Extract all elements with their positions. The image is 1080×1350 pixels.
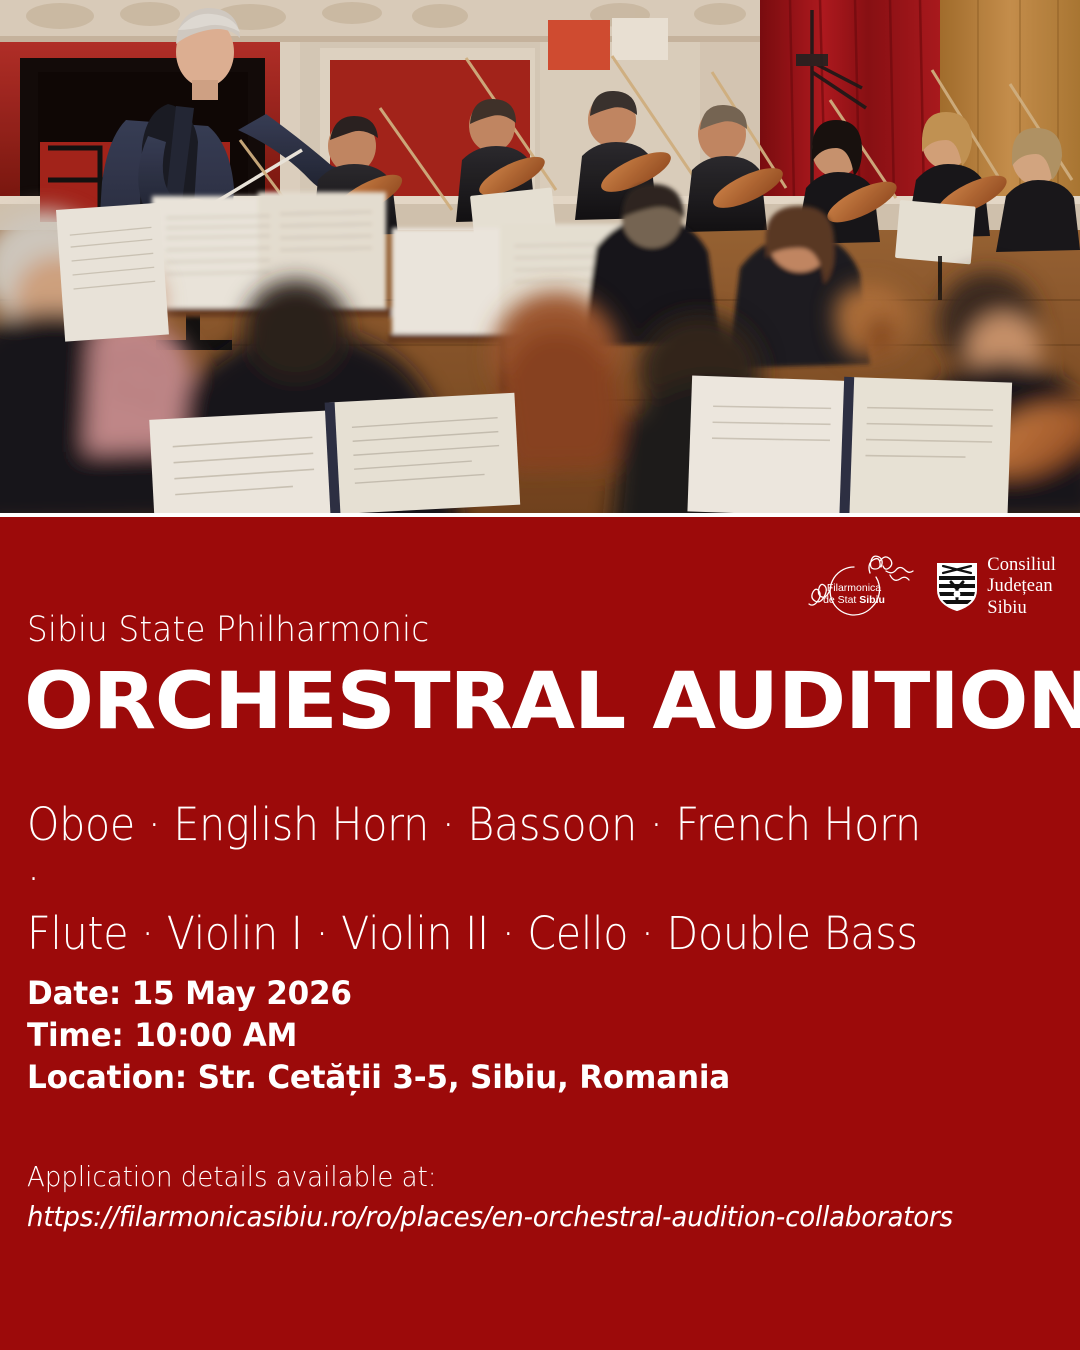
red-content-panel: Filarmonica de Stat Sibiu xyxy=(0,517,1080,1350)
consiliul-judetean-sibiu-logo: Consiliul Județean Sibiu xyxy=(936,555,1056,620)
orchestra-photo xyxy=(0,0,1080,513)
event-location: Location: Str. Cetății 3-5, Sibiu, Roman… xyxy=(27,1056,730,1098)
event-details: Date: 15 May 2026 Time: 10:00 AM Locatio… xyxy=(27,972,730,1099)
filarmonica-line1: Filarmonica xyxy=(827,582,881,594)
event-date: Date: 15 May 2026 xyxy=(27,972,730,1014)
filarmonica-line2: de Stat Sibiu xyxy=(823,594,885,606)
filarmonica-de-stat-sibiu-logo: Filarmonica de Stat Sibiu xyxy=(792,551,918,623)
sibiu-county-shield-icon xyxy=(936,562,978,612)
instrument-list: Oboe · English Horn · Bassoon · French H… xyxy=(27,798,933,961)
event-time: Time: 10:00 AM xyxy=(27,1014,730,1056)
instrument-list-line-2: Flute · Violin I · Violin II · Cello · D… xyxy=(27,907,933,961)
logo-row: Filarmonica de Stat Sibiu xyxy=(792,551,1056,623)
application-info: Application details available at: https:… xyxy=(27,1157,953,1237)
organization-name: Sibiu State Philharmonic xyxy=(27,610,429,650)
consiliul-judetean-label: Consiliul Județean Sibiu xyxy=(987,555,1056,620)
instrument-list-line-1: Oboe · English Horn · Bassoon · French H… xyxy=(27,798,933,907)
application-intro: Application details available at: xyxy=(27,1160,437,1193)
application-url[interactable]: https://filarmonicasibiu.ro/ro/places/en… xyxy=(27,1197,953,1237)
page-title: ORCHESTRAL AUDITION xyxy=(24,667,1080,739)
audition-poster: Filarmonica de Stat Sibiu xyxy=(0,0,1080,1350)
